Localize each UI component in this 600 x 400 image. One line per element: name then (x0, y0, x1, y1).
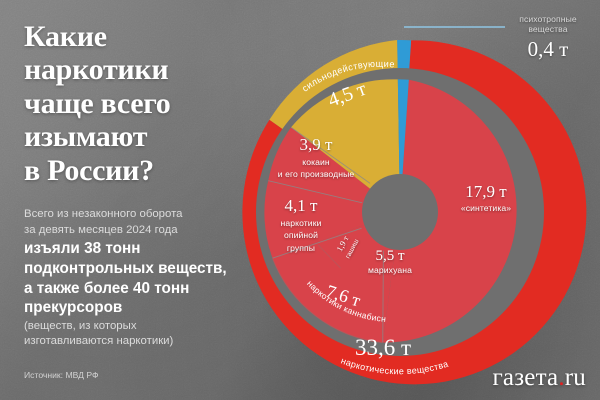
tail-line-2: изготавливаются наркотики) (24, 334, 229, 350)
title-line-3: чаще всего (24, 87, 229, 120)
title-line-4: изымают (24, 120, 229, 153)
highlight-line-3: а также более 40 тонн (24, 279, 229, 299)
title-line-2: наркотики (24, 53, 229, 86)
tail-paragraph: (веществ, из которых изготавливаются нар… (24, 319, 229, 350)
tail-line-1: (веществ, из которых (24, 319, 229, 335)
logo-tld: ru (565, 364, 586, 391)
lede-paragraph: Всего из незаконного оборота за девять м… (24, 207, 229, 238)
gazeta-logo[interactable]: газета.ru (492, 364, 586, 392)
left-text-column: Какие наркотики чаще всего изымают в Рос… (24, 20, 229, 350)
title-line-1: Какие (24, 20, 229, 53)
highlight-paragraph: изъяли 38 тонн подконтрольных веществ, а… (24, 239, 229, 318)
highlight-line-2: подконтрольных веществ, (24, 259, 229, 279)
donut-center-hole (362, 174, 438, 250)
source-note: Источник: МВД РФ (24, 370, 99, 380)
highlight-line-1: изъяли 38 тонн (24, 239, 229, 259)
title-line-5: в России? (24, 154, 229, 187)
logo-name: газета (492, 364, 558, 391)
lede-line-2: за девять месяцев 2024 года (24, 223, 229, 239)
lede-line-1: Всего из незаконного оборота (24, 207, 229, 223)
highlight-line-4: прекурсоров (24, 298, 229, 318)
page-title: Какие наркотики чаще всего изымают в Рос… (24, 20, 229, 187)
